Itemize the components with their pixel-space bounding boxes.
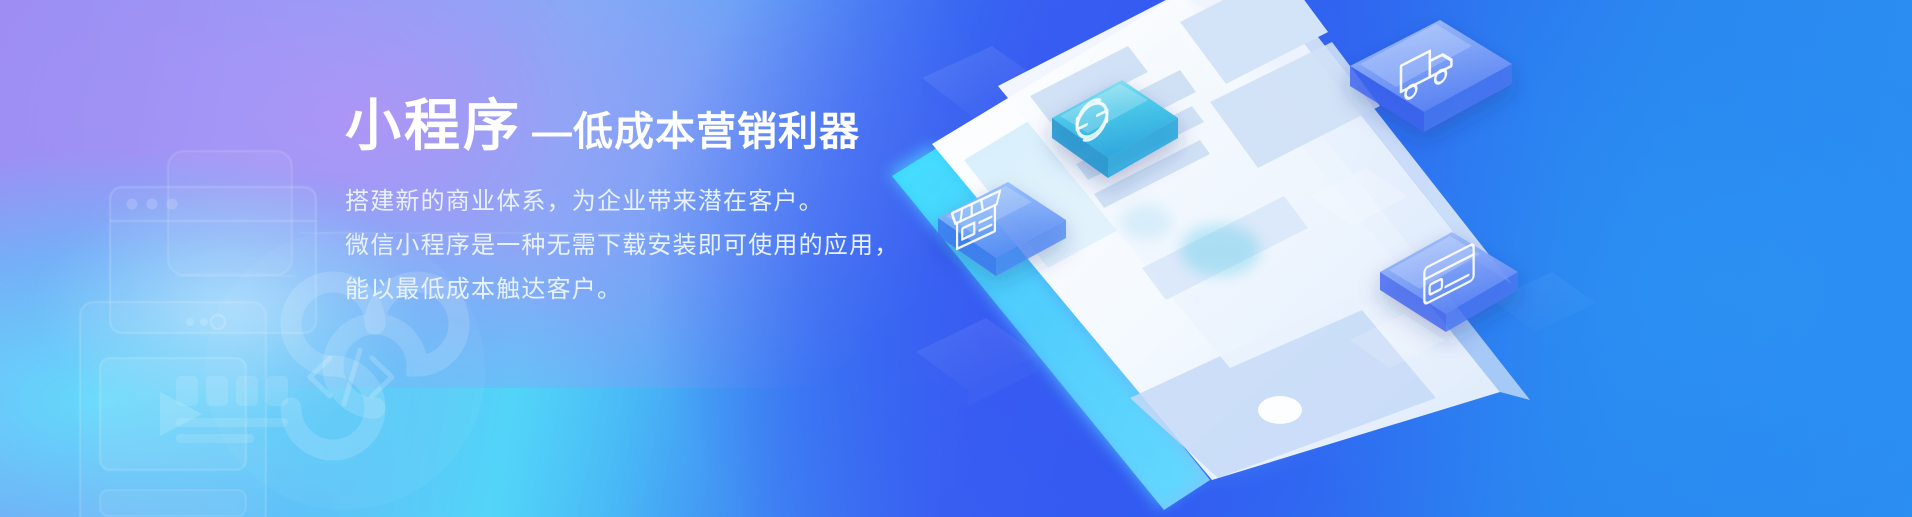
page-title: 小程序 bbox=[345, 96, 522, 156]
illustration-svg bbox=[880, 0, 1912, 517]
description-line: 微信小程序是一种无需下载安装即可使用的应用， bbox=[345, 224, 965, 268]
description-line: 搭建新的商业体系，为企业带来潜在客户。 bbox=[345, 180, 965, 224]
banner-description: 搭建新的商业体系，为企业带来潜在客户。 微信小程序是一种无需下载安装即可使用的应… bbox=[345, 180, 965, 312]
hero-banner: 小程序 —低成本营销利器 搭建新的商业体系，为企业带来潜在客户。 微信小程序是一… bbox=[0, 0, 1912, 517]
home-button bbox=[1258, 396, 1302, 424]
page-subtitle: —低成本营销利器 bbox=[532, 111, 860, 154]
phone-surface-blob bbox=[1180, 224, 1260, 276]
description-line: 能以最低成本触达客户。 bbox=[345, 268, 965, 312]
phone-surface-blob-2 bbox=[1120, 204, 1172, 240]
banner-text-block: 小程序 —低成本营销利器 搭建新的商业体系，为企业带来潜在客户。 微信小程序是一… bbox=[345, 96, 965, 312]
banner-title: 小程序 —低成本营销利器 bbox=[345, 96, 965, 156]
phone-illustration bbox=[880, 0, 1912, 517]
